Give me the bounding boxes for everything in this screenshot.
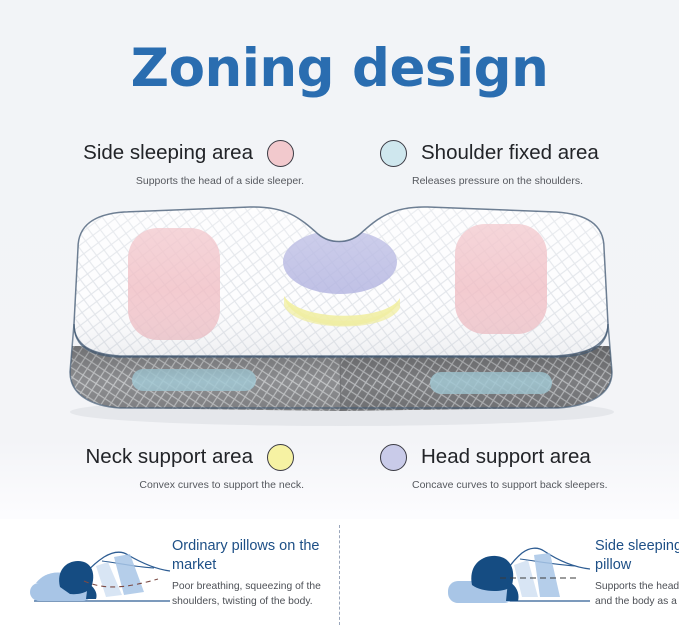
legend-row-bottom: Neck support area Convex curves to suppo… bbox=[0, 442, 679, 502]
legend-description: Supports the head of a side sleeper. bbox=[22, 175, 342, 187]
comparison-description: Supports the head, neck & shoulders and … bbox=[595, 580, 679, 610]
legend-head: Head support area bbox=[370, 442, 679, 472]
lavender-swatch-icon bbox=[380, 444, 407, 471]
comparison-description: Poor breathing, squeezing of the shoulde… bbox=[172, 580, 332, 610]
legend-label: Shoulder fixed area bbox=[421, 141, 599, 165]
pillow-product-illustration bbox=[0, 196, 679, 436]
legend-row-top: Side sleeping area Supports the head of … bbox=[0, 138, 679, 198]
yellow-swatch-icon bbox=[267, 444, 294, 471]
ordinary-pillow-illustration bbox=[18, 535, 178, 613]
legend-head: Neck support area bbox=[22, 442, 342, 472]
comparison-panel-ordinary: Ordinary pillows on the market Poor brea… bbox=[0, 519, 339, 629]
legend-label: Head support area bbox=[421, 445, 591, 469]
comparison-title: Side sleeping memory foam pillow bbox=[595, 537, 679, 574]
pillow-center-seam bbox=[340, 355, 341, 410]
comparison-title: Ordinary pillows on the market bbox=[172, 537, 332, 574]
comparison-text-ordinary: Ordinary pillows on the market Poor brea… bbox=[172, 537, 332, 610]
pink-swatch-icon bbox=[267, 140, 294, 167]
legend-item-neck-support-area: Neck support area Convex curves to suppo… bbox=[22, 442, 342, 491]
legend-description: Convex curves to support the neck. bbox=[22, 479, 342, 491]
light-blue-swatch-icon bbox=[380, 140, 407, 167]
comparison-section: Ordinary pillows on the market Poor brea… bbox=[0, 519, 679, 629]
infographic-page: Zoning design Side sleeping area Support… bbox=[0, 0, 679, 629]
comparison-text-memory-foam: Side sleeping memory foam pillow Support… bbox=[595, 537, 679, 610]
legend-description: Concave curves to support back sleepers. bbox=[370, 479, 679, 491]
comparison-panel-memory-foam: Side sleeping memory foam pillow Support… bbox=[340, 519, 679, 629]
legend-item-head-support-area: Head support area Concave curves to supp… bbox=[370, 442, 679, 491]
legend-label: Side sleeping area bbox=[83, 141, 253, 165]
memory-foam-pillow-illustration bbox=[438, 535, 598, 613]
pillow-top-surface bbox=[60, 196, 620, 366]
legend-head: Shoulder fixed area bbox=[370, 138, 679, 168]
page-title: Zoning design bbox=[0, 42, 679, 95]
legend-item-shoulder-fixed-area: Shoulder fixed area Releases pressure on… bbox=[370, 138, 679, 187]
legend-label: Neck support area bbox=[85, 445, 253, 469]
legend-item-side-sleeping-area: Side sleeping area Supports the head of … bbox=[22, 138, 342, 187]
legend-head: Side sleeping area bbox=[22, 138, 342, 168]
legend-description: Releases pressure on the shoulders. bbox=[370, 175, 679, 187]
